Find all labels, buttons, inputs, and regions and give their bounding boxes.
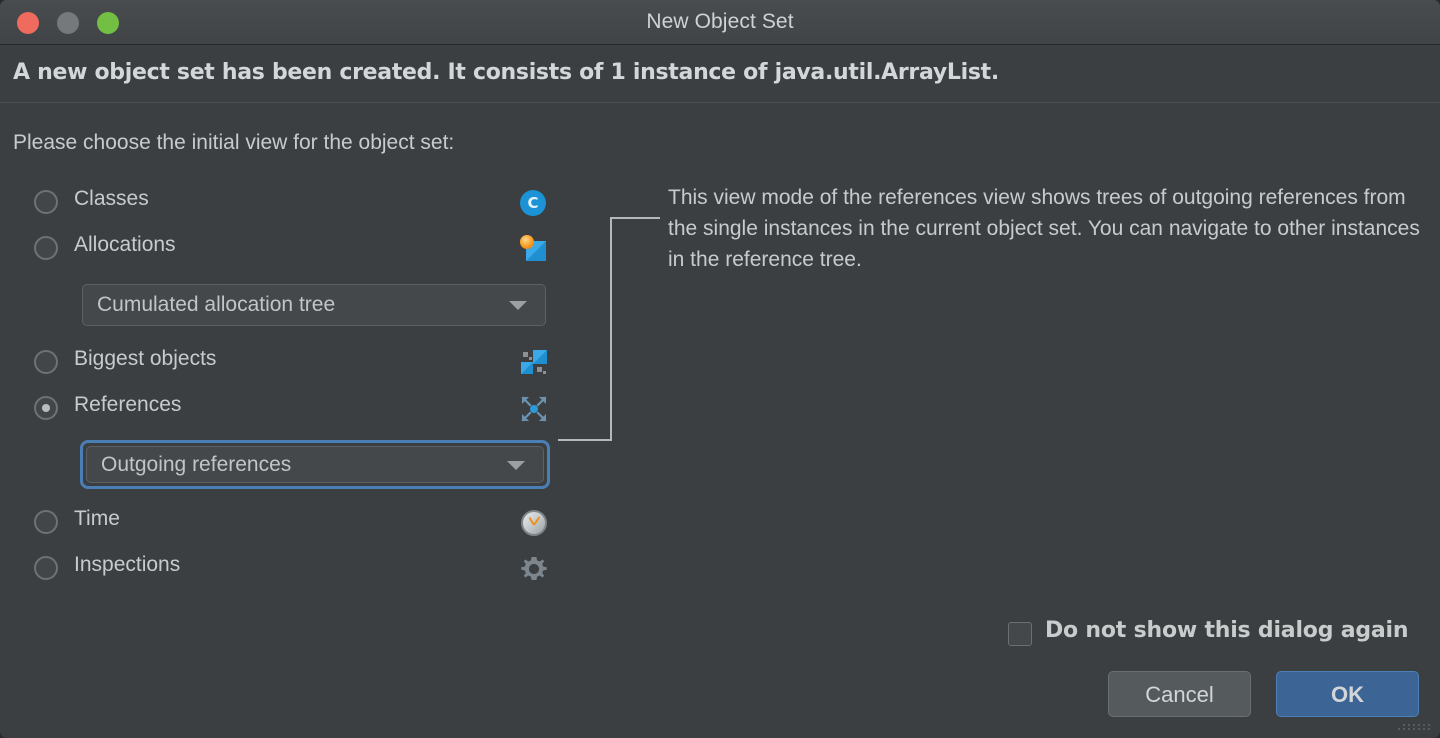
- radio-time[interactable]: [34, 510, 58, 534]
- radio-inspections[interactable]: [34, 556, 58, 580]
- classes-icon: C: [520, 189, 548, 217]
- chevron-down-icon: [509, 301, 527, 310]
- do-not-show-again-checkbox[interactable]: [1008, 622, 1032, 646]
- option-label-inspections: Inspections: [74, 553, 180, 577]
- connector-line-bottom: [558, 439, 612, 441]
- ok-button[interactable]: OK: [1276, 671, 1419, 717]
- radio-allocations[interactable]: [34, 236, 58, 260]
- banner-message: A new object set has been created. It co…: [13, 60, 999, 85]
- option-label-time: Time: [74, 507, 120, 531]
- allocation-view-combo-value: Cumulated allocation tree: [97, 293, 335, 317]
- window-title: New Object Set: [0, 10, 1440, 34]
- radio-classes[interactable]: [34, 190, 58, 214]
- biggest-objects-icon: [520, 349, 548, 377]
- option-label-classes: Classes: [74, 187, 149, 211]
- banner: A new object set has been created. It co…: [0, 46, 1440, 103]
- view-mode-description: This view mode of the references view sh…: [668, 182, 1428, 275]
- cancel-button[interactable]: Cancel: [1108, 671, 1251, 717]
- chevron-down-icon: [507, 461, 525, 470]
- allocations-icon: [520, 235, 548, 263]
- resize-grip[interactable]: [1398, 722, 1432, 732]
- gear-icon: [520, 555, 548, 583]
- connector-line-vertical: [610, 218, 612, 441]
- radio-references[interactable]: [34, 396, 58, 420]
- radio-biggest-objects[interactable]: [34, 350, 58, 374]
- new-object-set-dialog: New Object Set A new object set has been…: [0, 0, 1440, 738]
- title-bar: New Object Set: [0, 0, 1440, 45]
- connector-line-top: [610, 217, 660, 219]
- clock-icon: [520, 509, 548, 537]
- do-not-show-again-label: Do not show this dialog again: [1045, 618, 1408, 643]
- option-label-references: References: [74, 393, 181, 417]
- references-icon: [520, 395, 548, 423]
- prompt-label: Please choose the initial view for the o…: [13, 131, 454, 155]
- references-view-combo[interactable]: Outgoing references: [86, 446, 544, 483]
- allocation-view-combo[interactable]: Cumulated allocation tree: [82, 284, 546, 326]
- option-label-allocations: Allocations: [74, 233, 176, 257]
- references-view-combo-value: Outgoing references: [101, 453, 291, 477]
- option-label-biggest-objects: Biggest objects: [74, 347, 216, 371]
